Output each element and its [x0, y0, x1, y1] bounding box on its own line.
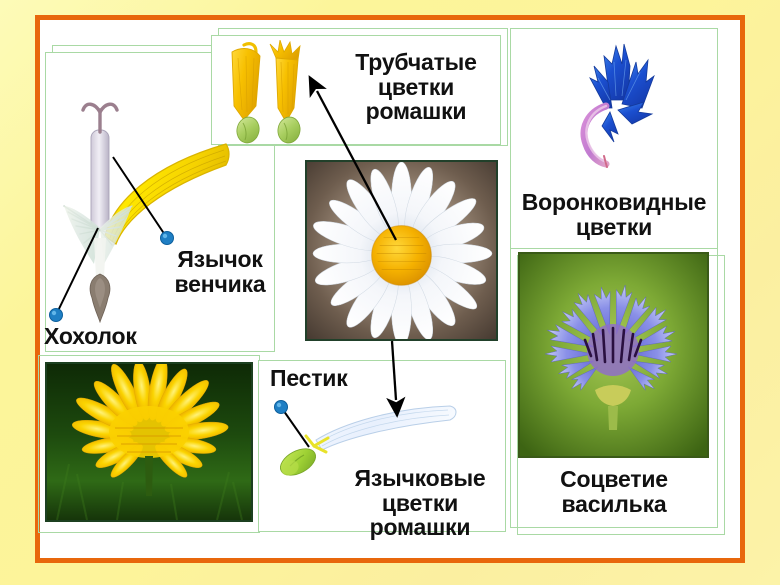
- label-funnel-flowers: Воронковидные цветки: [512, 190, 716, 239]
- label-ligulate-flowers: Язычковые цветки ромашки: [340, 466, 500, 540]
- slide-canvas: Язычок венчика Хохолок Трубчатые цветки …: [0, 0, 780, 585]
- photo-dandelion-inflorescence: [45, 362, 253, 522]
- label-cornflower-inflorescence: Соцветие василька: [512, 467, 716, 516]
- photo-daisy-inflorescence: [305, 160, 498, 341]
- photo-cornflower-inflorescence: [518, 252, 709, 458]
- illustration-funnel-floret: [566, 38, 681, 168]
- illustration-tubular-florets: [216, 40, 336, 145]
- label-pappus: Хохолок: [44, 324, 204, 349]
- label-ligule-of-corolla: Язычок венчика: [150, 247, 290, 296]
- label-pistil: Пестик: [270, 366, 390, 391]
- label-tubular-flowers: Трубчатые цветки ромашки: [336, 50, 496, 124]
